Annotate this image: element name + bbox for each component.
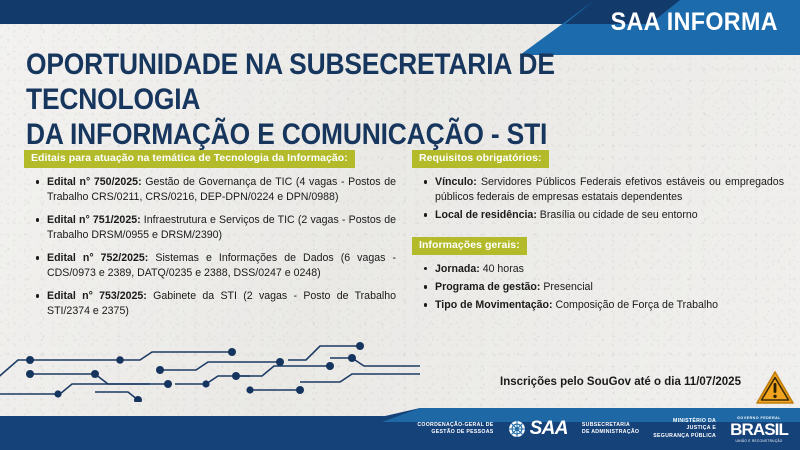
brasil-wordmark: BRASIL <box>730 421 788 438</box>
list-item: Edital n° 753/2025: Gabinete da STI (2 v… <box>36 289 396 319</box>
item-text: Servidores Públicos Federais efetivos es… <box>435 176 784 203</box>
circuit-decoration <box>0 332 420 402</box>
header-dark-bar <box>0 0 650 24</box>
footer-content: COORDENAÇÃO-GERAL DE GESTÃO DE PESSOAS S… <box>0 408 800 450</box>
list-item: Tipo de Movimentação: Composição de Forç… <box>424 298 784 313</box>
requirements-list: Vínculo: Servidores Públicos Federais ef… <box>412 175 784 223</box>
coordination-line2: GESTÃO DE PESSOAS <box>417 429 493 436</box>
list-item: Edital n° 752/2025: Sistemas e Informaçõ… <box>36 251 396 281</box>
item-lead: Tipo de Movimentação: <box>435 299 553 311</box>
ministry-line2: JUSTIÇA E <box>653 425 716 432</box>
general-section-label: Informações gerais: <box>412 237 527 255</box>
saa-subtitle-caption: SUBSECRETARIA DE ADMINISTRAÇÃO <box>582 422 639 436</box>
item-text: Composição de Força de Trabalho <box>553 299 718 311</box>
editais-list: Edital n° 750/2025: Gestão de Governança… <box>24 175 396 319</box>
item-lead: Programa de gestão: <box>435 281 540 293</box>
footer-coordination-caption: COORDENAÇÃO-GERAL DE GESTÃO DE PESSOAS <box>417 422 493 436</box>
item-text: 40 horas <box>480 263 524 275</box>
left-column: Editais para atuação na temática de Tecn… <box>24 148 396 319</box>
saa-sub-line2: DE ADMINISTRAÇÃO <box>582 429 639 436</box>
item-text: Presencial <box>540 281 592 293</box>
item-lead: Edital n° 751/2025: <box>47 214 141 226</box>
saa-emblem-icon <box>508 420 526 438</box>
saa-wordmark: SAA <box>530 418 568 440</box>
warning-triangle-icon <box>755 370 795 406</box>
list-item: Jornada: 40 horas <box>424 262 784 277</box>
right-column: Requisitos obrigatórios: Vínculo: Servid… <box>412 148 784 316</box>
item-lead: Vínculo: <box>435 176 477 188</box>
general-info-group: Informações gerais: Jornada: 40 horas Pr… <box>412 235 784 313</box>
brasil-government-logo: GOVERNO FEDERAL BRASIL UNIÃO E RECONSTRU… <box>730 416 788 443</box>
coordination-line1: COORDENAÇÃO-GERAL DE <box>417 422 493 429</box>
item-text: Brasília ou cidade de seu entorno <box>537 209 698 221</box>
inscription-text: Inscrições pelo SouGov até o dia 11/07/2… <box>500 376 741 388</box>
requirements-section-label: Requisitos obrigatórios: <box>412 150 549 168</box>
item-lead: Edital n° 753/2025: <box>47 290 147 302</box>
item-lead: Edital n° 752/2025: <box>47 252 148 264</box>
item-lead: Jornada: <box>435 263 480 275</box>
list-item: Edital n° 750/2025: Gestão de Governança… <box>36 175 396 205</box>
ministry-caption: MINISTÉRIO DA JUSTIÇA E SEGURANÇA PÚBLIC… <box>653 418 716 439</box>
saa-sub-line1: SUBSECRETARIA <box>582 422 639 429</box>
header-badge-title: SAA INFORMA <box>611 8 778 37</box>
brasil-top-caption: GOVERNO FEDERAL <box>737 416 781 420</box>
item-lead: Edital n° 750/2025: <box>47 176 142 188</box>
poster-root: SAA INFORMA OPORTUNIDADE NA SUBSECRETARI… <box>0 0 800 450</box>
list-item: Programa de gestão: Presencial <box>424 280 784 295</box>
page-title-line1: OPORTUNIDADE NA SUBSECRETARIA DE TECNOLO… <box>26 48 555 116</box>
list-item: Local de residência: Brasília ou cidade … <box>424 208 784 223</box>
item-lead: Local de residência: <box>435 209 537 221</box>
page-title: OPORTUNIDADE NA SUBSECRETARIA DE TECNOLO… <box>26 48 589 152</box>
list-item: Vínculo: Servidores Públicos Federais ef… <box>424 175 784 205</box>
general-list: Jornada: 40 horas Programa de gestão: Pr… <box>412 262 784 313</box>
brasil-bottom-caption: UNIÃO E RECONSTRUÇÃO <box>736 439 783 443</box>
saa-logo: SAA <box>508 418 568 440</box>
ministry-line1: MINISTÉRIO DA <box>653 418 716 425</box>
list-item: Edital n° 751/2025: Infraestrutura e Ser… <box>36 213 396 243</box>
ministry-line3: SEGURANÇA PÚBLICA <box>653 433 716 440</box>
left-section-label: Editais para atuação na temática de Tecn… <box>24 150 355 168</box>
